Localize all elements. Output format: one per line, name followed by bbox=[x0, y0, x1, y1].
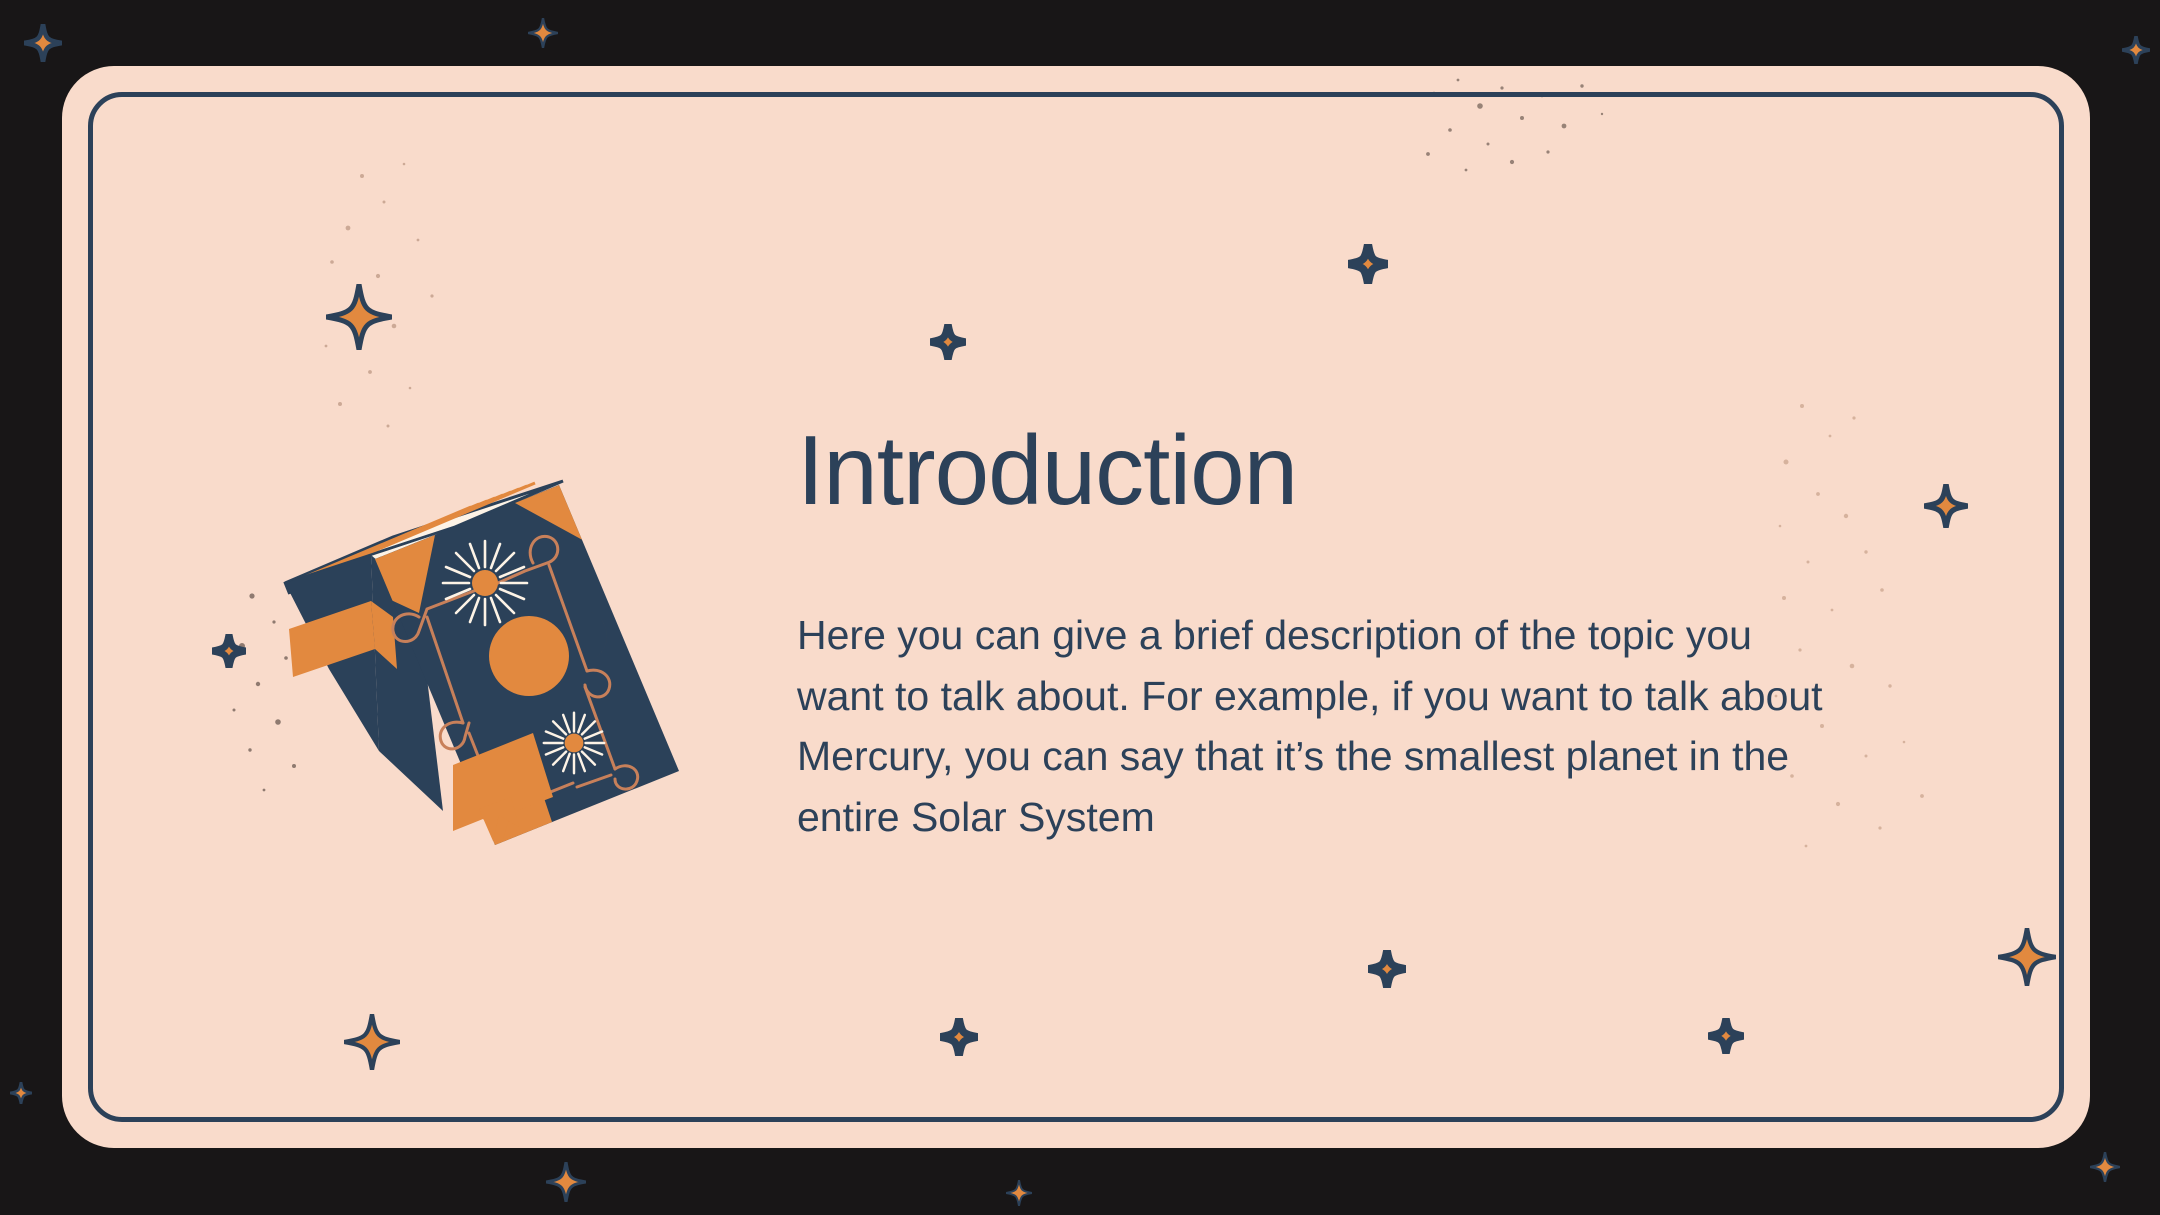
grain-texture-top-right bbox=[1392, 66, 1812, 366]
star-outer-top-right-icon bbox=[2122, 36, 2150, 64]
star-card-bottom-right-icon bbox=[1708, 1018, 1744, 1054]
celestial-book-illustration bbox=[267, 441, 707, 871]
slide-stage: Introduction Here you can give a brief d… bbox=[0, 0, 2160, 1215]
star-outer-bottom-mid-icon bbox=[546, 1162, 586, 1202]
grain-texture-top-left bbox=[292, 136, 622, 476]
slide-text-column: Introduction Here you can give a brief d… bbox=[797, 421, 1837, 848]
star-outer-top-mid-icon bbox=[528, 18, 558, 48]
slide-body-text: Here you can give a brief description of… bbox=[797, 605, 1827, 848]
star-card-bottom-left-icon bbox=[344, 1014, 400, 1070]
star-card-bottom-mid-icon bbox=[1368, 950, 1406, 988]
star-outer-top-left-icon bbox=[24, 24, 62, 62]
star-outer-right-lower-icon bbox=[2090, 1152, 2120, 1182]
star-card-bottom-center-icon bbox=[940, 1018, 978, 1056]
page-title: Introduction bbox=[797, 421, 1837, 519]
star-outer-bottom-right-icon bbox=[1006, 1180, 1032, 1206]
slide-card: Introduction Here you can give a brief d… bbox=[62, 66, 2090, 1148]
star-card-upper-left-sm-icon bbox=[930, 324, 966, 360]
star-card-top-left-icon bbox=[326, 284, 392, 350]
star-card-right-upper-icon bbox=[1924, 484, 1968, 528]
star-outer-left-lower-icon bbox=[10, 1082, 32, 1104]
star-card-far-right-icon bbox=[1998, 928, 2056, 986]
star-card-mid-left-icon bbox=[212, 634, 246, 668]
star-card-upper-center-icon bbox=[1348, 244, 1388, 284]
